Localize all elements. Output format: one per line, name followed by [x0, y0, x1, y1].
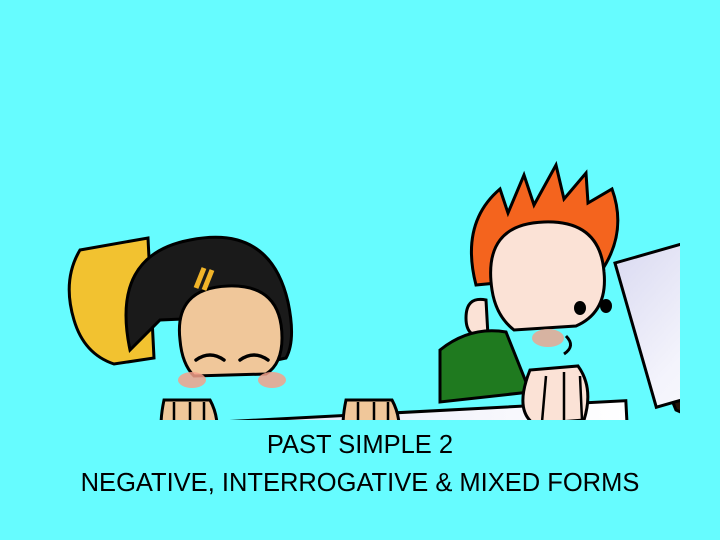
character-black-hair	[126, 237, 292, 388]
title-line-2: NEGATIVE, INTERROGATIVE & MIXED FORMS	[0, 464, 720, 502]
character-orange-hair	[440, 165, 618, 402]
presentation-slide: EN EAT S ING	[0, 0, 720, 540]
slide-title-block: PAST SIMPLE 2 NEGATIVE, INTERROGATIVE & …	[0, 426, 720, 502]
title-line-1: PAST SIMPLE 2	[0, 426, 720, 464]
sign-en: EN	[615, 200, 680, 408]
clipart-illustration: EN EAT S ING	[40, 50, 680, 420]
